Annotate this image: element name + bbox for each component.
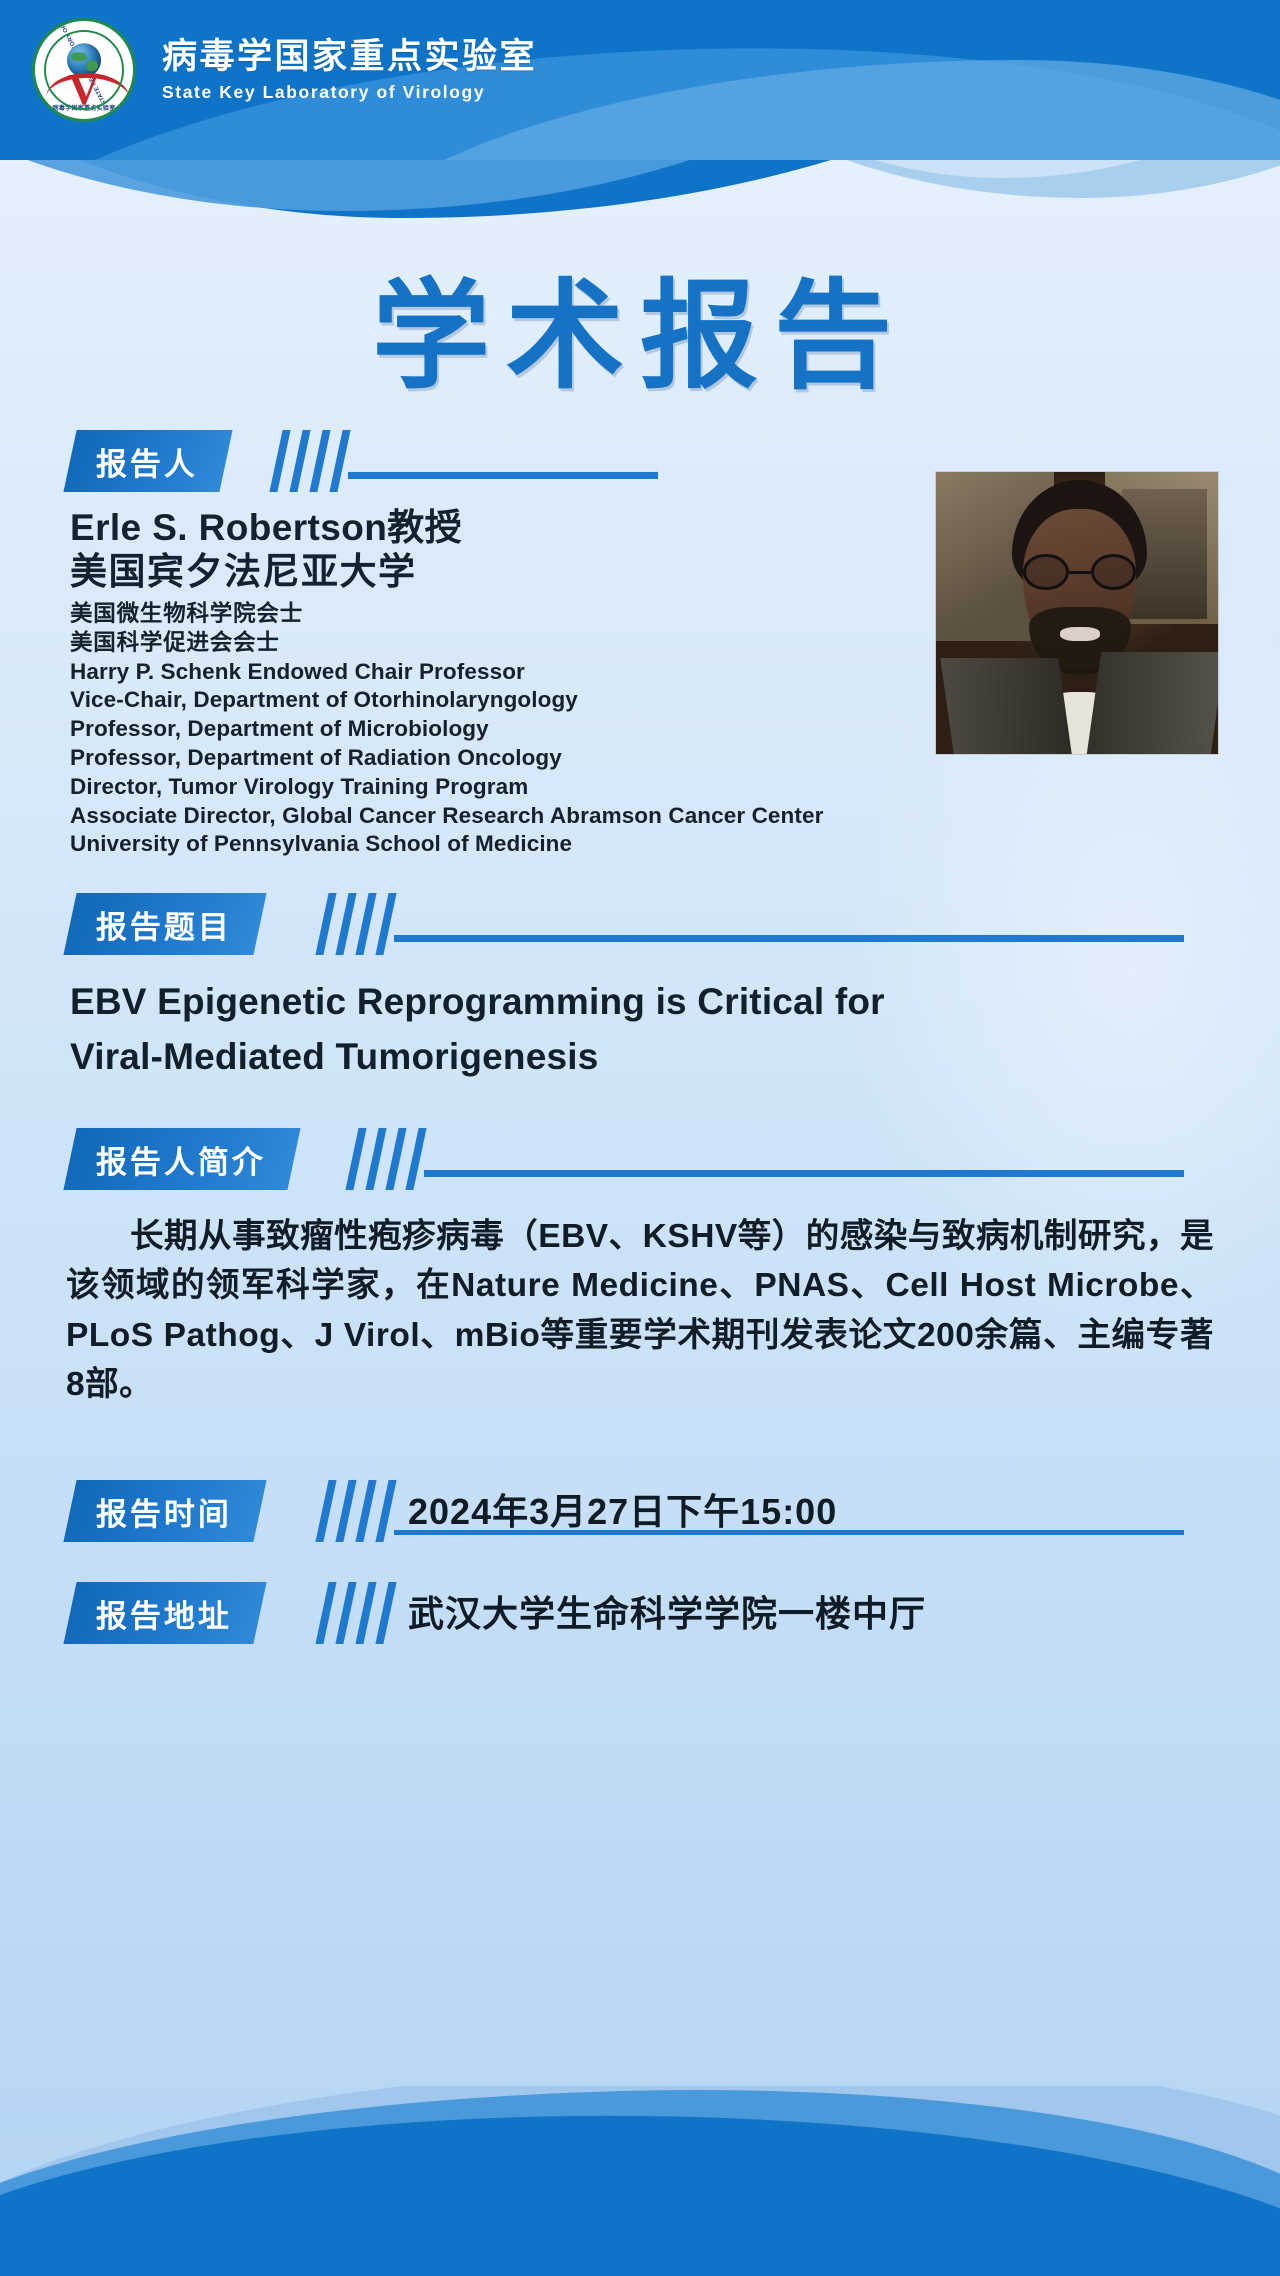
- topic-section-badge: 报告题目: [0, 893, 1280, 955]
- badge-stripes: [322, 1582, 392, 1644]
- poster-header: STATE KEY LABORATORY OF VIROLOGY V 病毒学国家…: [0, 0, 1280, 160]
- badge-rule: [348, 472, 658, 479]
- talk-title-line-2: Viral-Mediated Tumorigenesis: [0, 1032, 1280, 1081]
- logo-arc-text: STATE KEY LABORATORY OF VIROLOGY: [35, 21, 133, 119]
- time-section-row: 报告时间 2024年3月27日下午15:00: [0, 1480, 1280, 1544]
- badge-rule: [424, 1170, 1184, 1177]
- speaker-bio-paragraph: 长期从事致瘤性疱疹病毒（EBV、KSHV等）的感染与致病机制研究，是该领域的领军…: [0, 1212, 1280, 1410]
- event-venue-value: 武汉大学生命科学学院一楼中厅: [408, 1584, 926, 1644]
- speaker-credential: Associate Director, Global Cancer Resear…: [70, 802, 1210, 831]
- speaker-credential: University of Pennsylvania School of Med…: [70, 830, 1210, 859]
- badge-stripes: [276, 430, 346, 492]
- poster-content: 报告人 Erle S. Robertson教授 美国宾夕: [0, 430, 1280, 1650]
- speaker-block: Erle S. Robertson教授 美国宾夕法尼亚大学 美国微生物科学院会士…: [0, 506, 1280, 859]
- badge-label-topic: 报告题目: [63, 893, 266, 955]
- eyeglasses-icon: [1023, 554, 1136, 591]
- talk-title-line-1: EBV Epigenetic Reprogramming is Critical…: [0, 977, 1280, 1026]
- badge-label-speaker: 报告人: [63, 430, 232, 492]
- bio-text: 长期从事致瘤性疱疹病毒（EBV、KSHV等）的感染与致病机制研究，是该领域的领军…: [66, 1218, 1214, 1404]
- badge-stripes: [322, 1480, 392, 1542]
- page-title: 学术报告: [0, 240, 1280, 411]
- badge-rule: [394, 935, 1184, 942]
- lab-logo-icon: STATE KEY LABORATORY OF VIROLOGY V 病毒学国家…: [30, 16, 138, 124]
- speaker-credential: Director, Tumor Virology Training Progra…: [70, 773, 1210, 802]
- event-time-value: 2024年3月27日下午15:00: [408, 1482, 837, 1542]
- speaker-photo: [936, 472, 1218, 754]
- logo-red-arc: [46, 72, 130, 99]
- venue-section-row: 报告地址 武汉大学生命科学学院一楼中厅: [0, 1582, 1280, 1646]
- academic-lecture-poster: STATE KEY LABORATORY OF VIROLOGY V 病毒学国家…: [0, 0, 1280, 2276]
- logo-base-text: 病毒学国家重点实验室: [52, 103, 115, 112]
- lab-name-en: State Key Laboratory of Virology: [162, 82, 537, 103]
- globe-icon: [67, 44, 101, 78]
- badge-label-time: 报告时间: [63, 1480, 266, 1542]
- profile-section-badge: 报告人简介: [0, 1128, 1280, 1190]
- badge-label-profile: 报告人简介: [63, 1128, 300, 1190]
- badge-stripes: [352, 1128, 422, 1190]
- badge-label-venue: 报告地址: [63, 1582, 266, 1644]
- bottom-wave-decoration: [0, 2086, 1280, 2276]
- badge-stripes: [322, 893, 392, 955]
- lab-name-cn: 病毒学国家重点实验室: [162, 37, 537, 76]
